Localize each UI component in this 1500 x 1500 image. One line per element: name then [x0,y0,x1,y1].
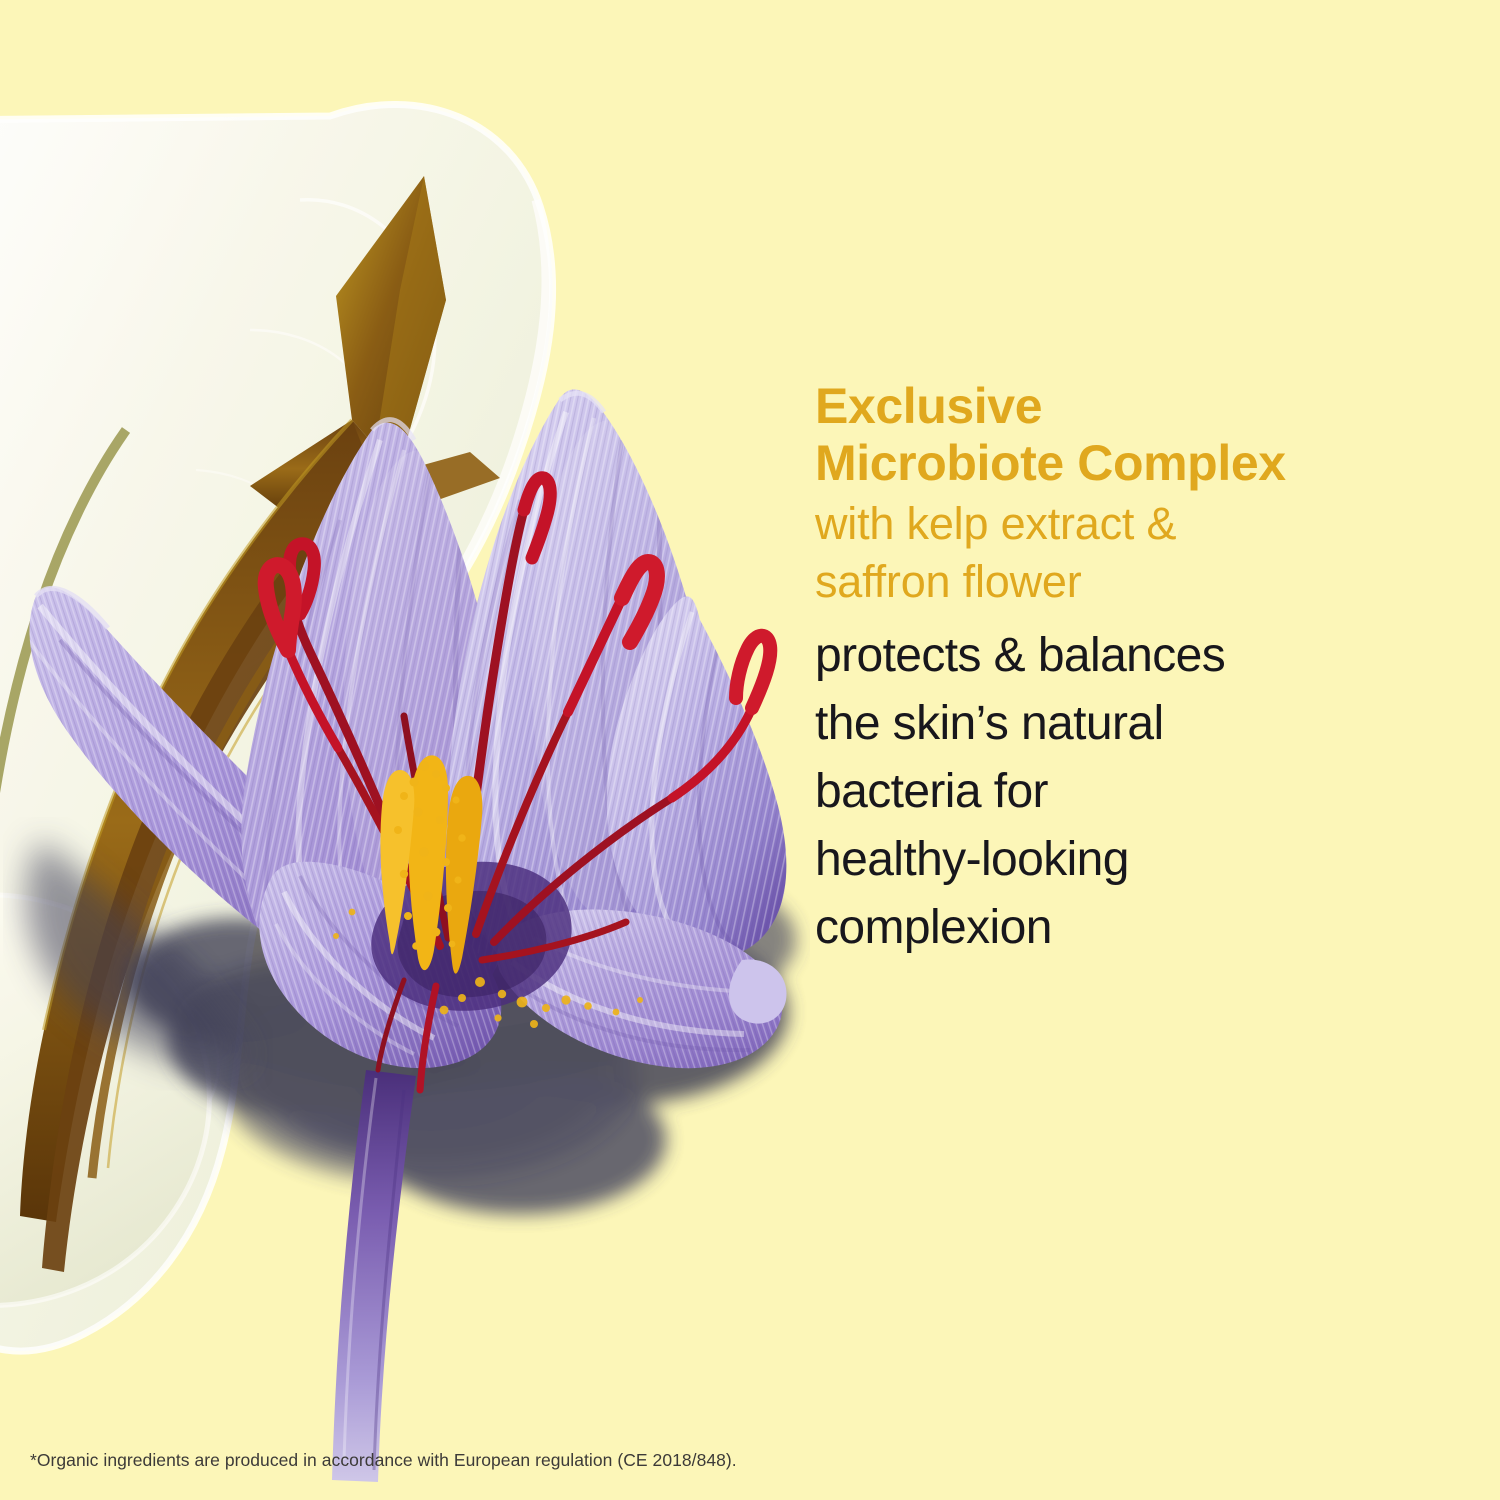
copy-block: Exclusive Microbiote Complex with kelp e… [815,378,1475,962]
body-line-3: bacteria for [815,758,1475,826]
body-line-4: healthy-looking [815,826,1475,894]
benefit-statement: protects & balances the skin’s natural b… [815,608,1475,962]
subhead-line-2: saffron flower [815,550,1475,608]
headline-line-2: Microbiote Complex [815,435,1475,492]
body-line-1: protects & balances [815,622,1475,690]
subhead-line-1: with kelp extract & [815,492,1475,550]
headline-line-1: Exclusive [815,378,1475,435]
saffron-flower-photo [0,0,810,1500]
product-ingredient-infographic: Exclusive Microbiote Complex with kelp e… [0,0,1500,1500]
body-line-5: complexion [815,894,1475,962]
organic-footnote: *Organic ingredients are produced in acc… [30,1449,737,1471]
body-line-2: the skin’s natural [815,690,1475,758]
